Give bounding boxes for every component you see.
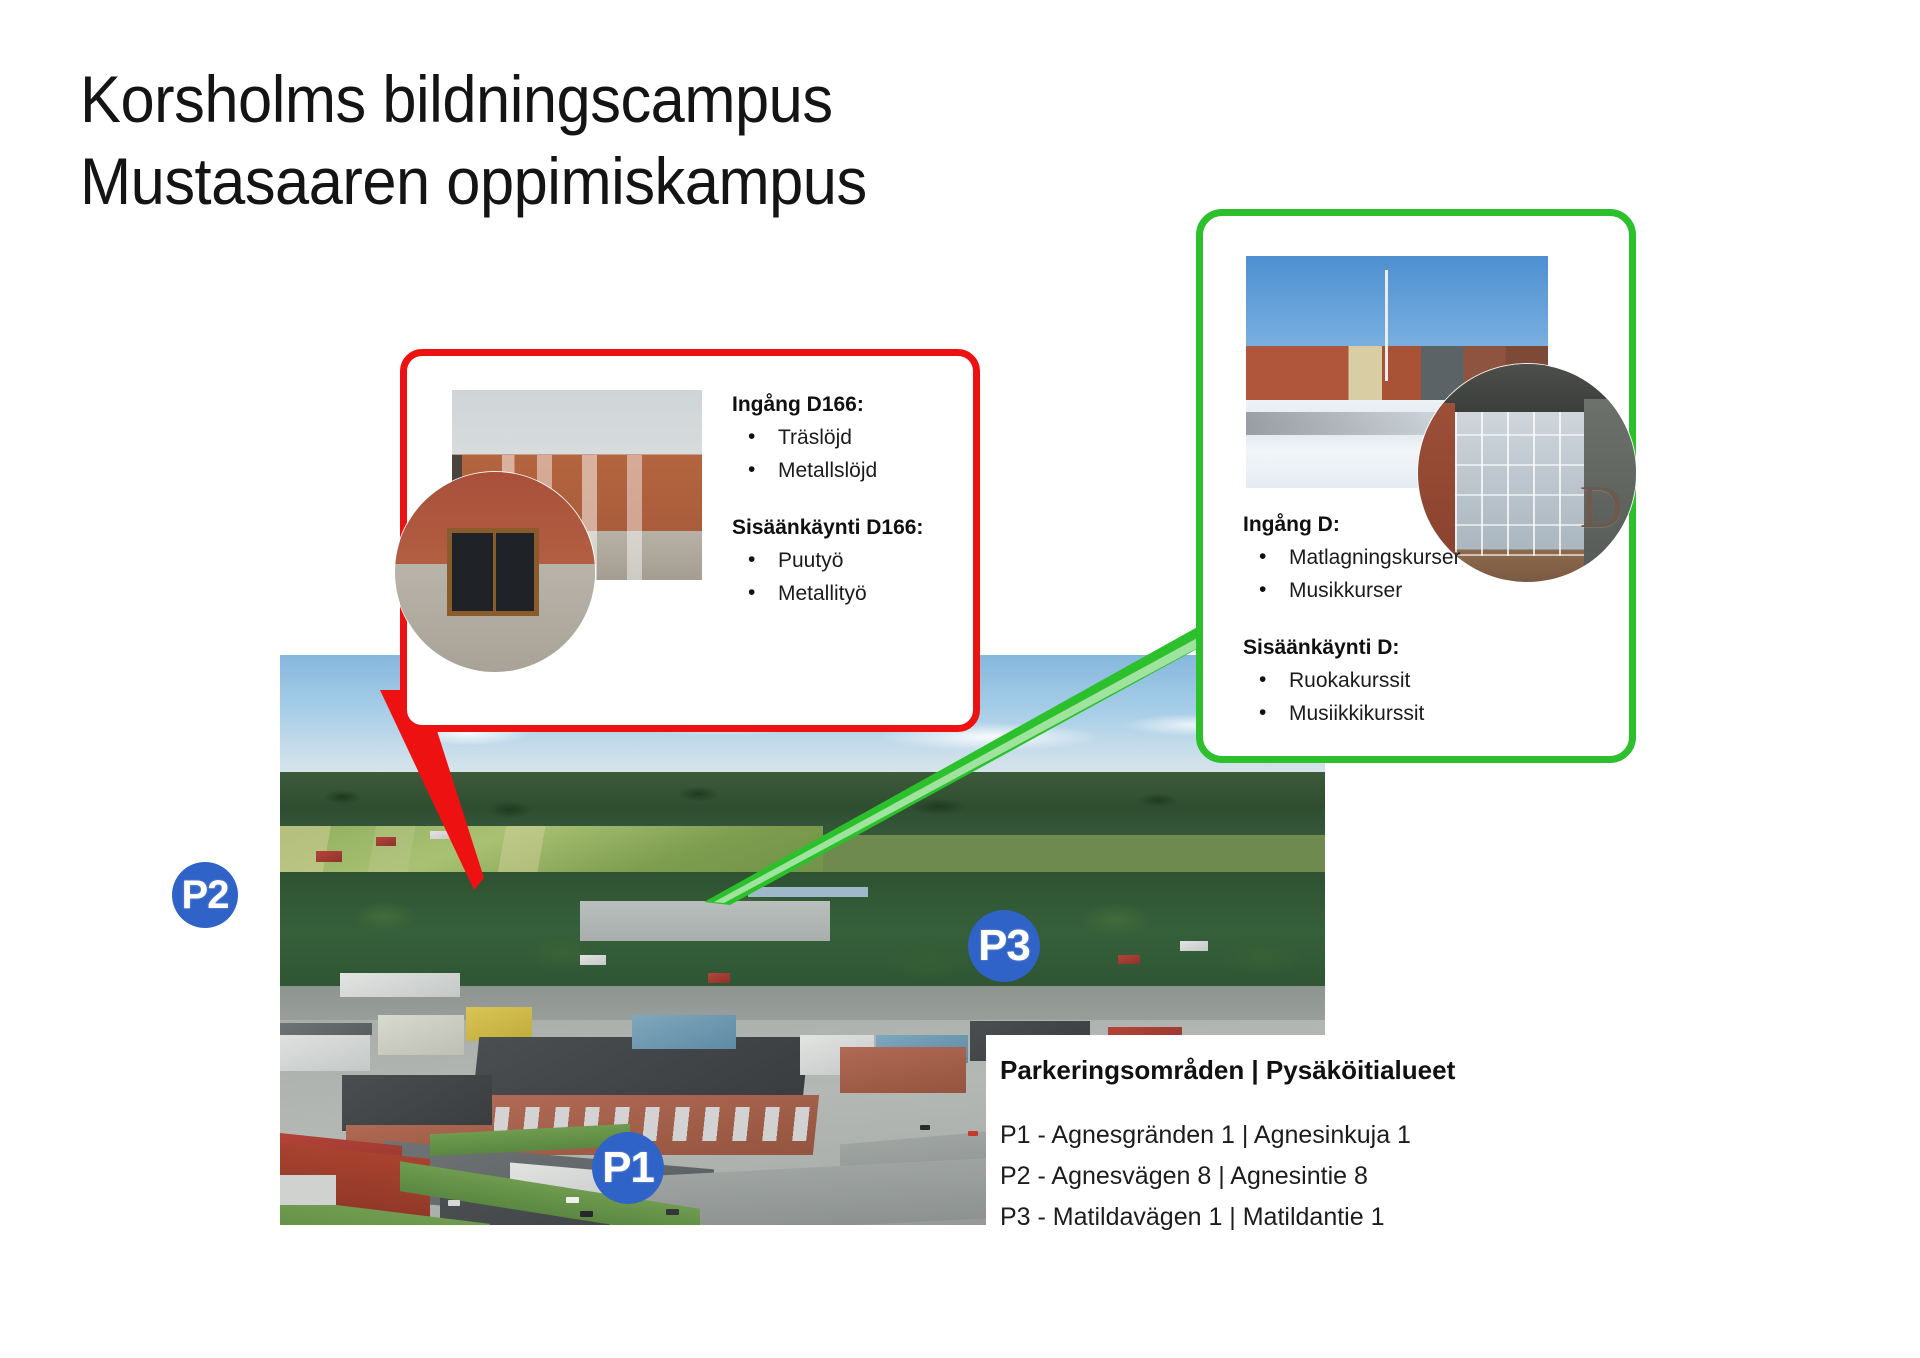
legend-row-p3: P3 - Matildavägen 1 | Matildantie 1	[1000, 1197, 1640, 1238]
annex-roof	[342, 1075, 492, 1131]
callout-red-entrance-d166[interactable]: Ingång D166: Träslöjd Metallslöjd Sisään…	[400, 349, 980, 732]
legend-row-p1: P1 - Agnesgränden 1 | Agnesinkuja 1	[1000, 1115, 1640, 1156]
car	[666, 1209, 679, 1215]
green-heading-finnish: Sisäänkäynti D:	[1243, 633, 1623, 663]
title-line-swedish: Korsholms bildningscampus	[80, 58, 1177, 140]
house	[280, 1175, 336, 1205]
list-item: Puutyö	[732, 544, 957, 577]
house-roof	[1118, 955, 1140, 964]
green-callout-text: Ingång D: Matlagningskurser Musikkurser …	[1243, 510, 1623, 730]
legend-title: Parkeringsområden | Pysäköitialueet	[1000, 1035, 1640, 1089]
car	[448, 1200, 460, 1206]
green-list-finnish: Ruokakurssit Musiikkikurssit	[1243, 664, 1623, 730]
flagpole	[1385, 270, 1388, 381]
car	[920, 1125, 930, 1130]
list-item: Träslöjd	[732, 421, 957, 454]
green-list-swedish: Matlagningskurser Musikkurser	[1243, 541, 1623, 607]
legend-row-p2: P2 - Agnesvägen 8 | Agnesintie 8	[1000, 1156, 1640, 1197]
car	[566, 1197, 579, 1203]
brick-building	[840, 1047, 966, 1093]
legend-rows: P1 - Agnesgränden 1 | Agnesinkuja 1 P2 -…	[1000, 1115, 1640, 1238]
red-heading-swedish: Ingång D166:	[732, 390, 957, 420]
building	[340, 973, 460, 997]
callout-green-entrance-d[interactable]: D Ingång D: Matlagningskurser Musikkurse…	[1196, 209, 1636, 763]
parking-marker-p2[interactable]: P2	[172, 862, 238, 928]
building	[378, 1015, 464, 1055]
list-item: Metallityö	[732, 577, 957, 610]
green-heading-swedish: Ingång D:	[1243, 510, 1623, 540]
blue-roof-building	[632, 1015, 736, 1049]
page-title: Korsholms bildningscampus Mustasaaren op…	[80, 58, 1260, 222]
yellow-building	[466, 1007, 532, 1041]
car	[580, 1211, 593, 1217]
red-list-swedish: Träslöjd Metallslöjd	[732, 421, 957, 487]
red-heading-finnish: Sisäänkäynti D166:	[732, 513, 957, 543]
list-item: Ruokakurssit	[1243, 664, 1623, 697]
house-roof	[580, 955, 606, 965]
red-entrance-inset-photo	[395, 472, 595, 672]
list-item: Musiikkikurssit	[1243, 697, 1623, 730]
spacer	[732, 487, 957, 513]
title-line-finnish: Mustasaaren oppimiskampus	[80, 140, 1177, 222]
house-roof	[1180, 941, 1208, 951]
list-item: Matlagningskurser	[1243, 541, 1623, 574]
parking-marker-p3[interactable]: P3	[968, 910, 1040, 982]
red-list-finnish: Puutyö Metallityö	[732, 544, 957, 610]
building-roof	[280, 1023, 372, 1035]
parking-legend: Parkeringsområden | Pysäköitialueet P1 -…	[1000, 1035, 1640, 1238]
parking-marker-p1[interactable]: P1	[592, 1132, 664, 1204]
slide-canvas: Korsholms bildningscampus Mustasaaren op…	[0, 0, 1920, 1358]
list-item: Musikkurser	[1243, 574, 1623, 607]
entrance-door	[447, 528, 539, 616]
list-item: Metallslöjd	[732, 454, 957, 487]
house-roof	[708, 973, 730, 983]
car	[968, 1131, 978, 1136]
spacer	[1243, 607, 1623, 633]
house-roof	[316, 851, 342, 862]
red-callout-text: Ingång D166: Träslöjd Metallslöjd Sisään…	[732, 390, 957, 610]
